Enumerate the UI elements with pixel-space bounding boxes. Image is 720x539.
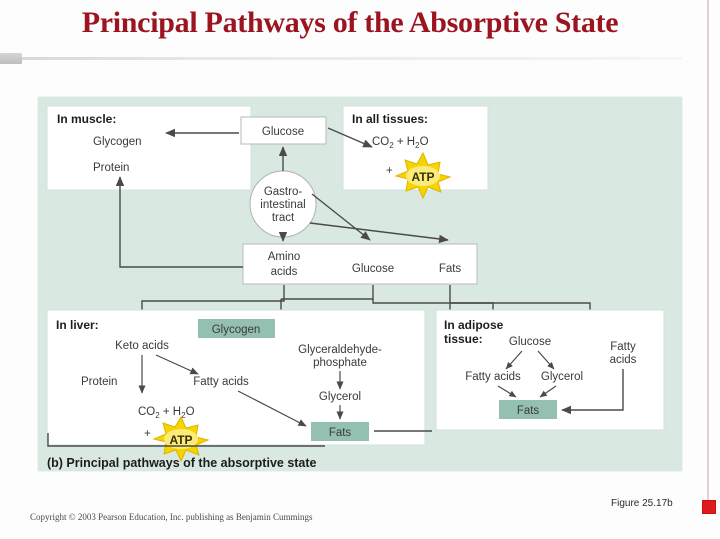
- figure-caption: (b) Principal pathways of the absorptive…: [47, 456, 317, 470]
- amino-acids-label-line1: Amino: [268, 251, 301, 263]
- right-edge-accent-line: [707, 0, 709, 505]
- title-rule: [22, 57, 682, 60]
- gi-tract-label-line3: tract: [272, 212, 295, 224]
- connector-gi-to-glucose-mid: [312, 194, 370, 240]
- liver-product-label: CO2 + H2O: [138, 406, 195, 420]
- liver-atp-label: ATP: [169, 433, 192, 447]
- liver-box-header: In liver:: [56, 318, 99, 332]
- adipose-box-header-line1: In adipose: [444, 318, 504, 332]
- connector-gi-to-fats-mid: [310, 223, 448, 240]
- all-tissues-product-label: CO2 + H2O: [372, 136, 429, 150]
- liver-protein-label: Protein: [81, 376, 117, 388]
- slide-canvas: Principal Pathways of the Absorptive Sta…: [0, 0, 720, 539]
- title-rule-cap: [0, 53, 22, 64]
- adipose-fatty-label-line1: Fatty: [610, 341, 636, 353]
- glucose-top-label: Glucose: [262, 126, 304, 138]
- page-title: Principal Pathways of the Absorptive Sta…: [0, 6, 700, 40]
- connector-glucose-bus-left: [281, 285, 373, 299]
- adipose-acids-label-line2: acids: [610, 354, 637, 366]
- gi-tract-label-line2: intestinal: [260, 199, 305, 211]
- liver-keto-acids-label: Keto acids: [115, 340, 169, 352]
- liver-g3p-label-line2: phosphate: [313, 357, 367, 369]
- gi-tract-label-line1: Gastro-: [264, 186, 303, 198]
- adipose-box-header-line2: tissue:: [444, 332, 483, 346]
- pathway-diagram: In muscle: Glycogen Protein In all tissu…: [38, 97, 684, 473]
- muscle-box-header: In muscle:: [57, 112, 116, 126]
- connector-amino-bus-to-liver: [142, 285, 284, 310]
- adipose-glycerol-label: Glycerol: [541, 371, 583, 383]
- liver-fats-label: Fats: [329, 427, 352, 439]
- right-edge-accent-square: [702, 500, 716, 514]
- muscle-protein-label: Protein: [93, 162, 129, 174]
- liver-plus-sign: +: [144, 428, 151, 440]
- figure-panel: In muscle: Glycogen Protein In all tissu…: [37, 96, 683, 472]
- muscle-glycogen-label: Glycogen: [93, 136, 142, 148]
- figure-number-label: Figure 25.17b: [611, 498, 673, 509]
- adipose-glucose-label: Glucose: [509, 336, 551, 348]
- glucose-mid-label: Glucose: [352, 263, 394, 275]
- liver-glycerol-label: Glycerol: [319, 391, 361, 403]
- fats-mid-label: Fats: [439, 263, 462, 275]
- liver-fatty-acids-label: Fatty acids: [193, 376, 249, 388]
- adipose-fatty-acids-label: Fatty acids: [465, 371, 521, 383]
- adipose-fats-label: Fats: [517, 405, 540, 417]
- all-tissues-plus-sign: +: [386, 165, 393, 177]
- liver-glycogen-label: Glycogen: [212, 324, 261, 336]
- amino-acids-label-line2: acids: [271, 266, 298, 278]
- liver-g3p-label-line1: Glyceraldehyde-: [298, 344, 382, 356]
- copyright-notice: Copyright © 2003 Pearson Education, Inc.…: [30, 512, 313, 522]
- all-tissues-box-header: In all tissues:: [352, 112, 428, 126]
- all-tissues-atp-label: ATP: [411, 170, 434, 184]
